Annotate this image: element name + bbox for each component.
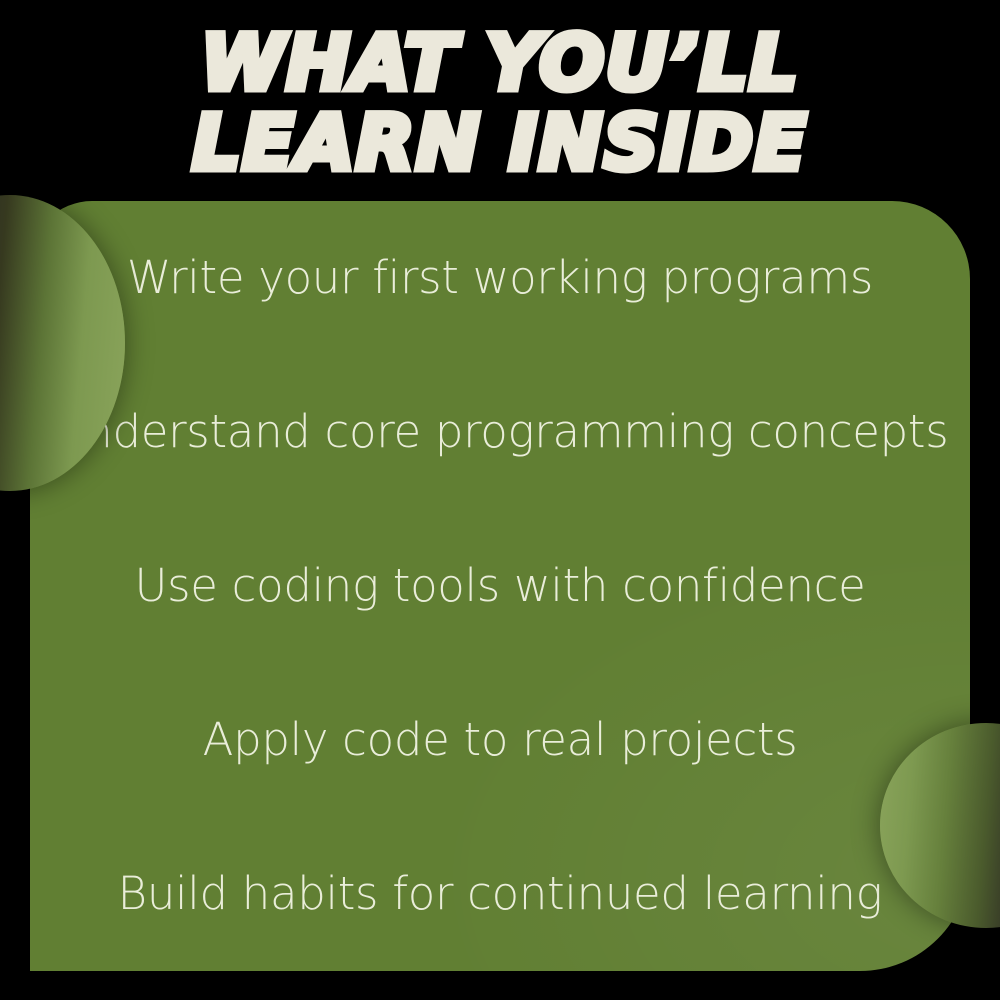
list-item: Use coding tools with confidence	[30, 509, 970, 663]
list-item-label: Apply code to real projects	[203, 716, 798, 763]
list-item-label: Write your first working programs	[127, 254, 873, 301]
list-item-label: Understand core programming concepts	[52, 408, 949, 455]
learning-points-list: Write your first working programs Unders…	[30, 201, 970, 971]
list-item: Write your first working programs	[30, 201, 970, 355]
list-item-label: Build habits for continued learning	[118, 870, 883, 917]
poster-canvas: WHAT YOU’LL LEARN INSIDE Write your firs…	[0, 0, 1000, 1000]
list-item-label: Use coding tools with confidence	[134, 562, 865, 609]
page-title: WHAT YOU’LL LEARN INSIDE	[0, 28, 1000, 178]
list-item: Understand core programming concepts	[30, 355, 970, 509]
list-item: Apply code to real projects	[30, 663, 970, 817]
list-item: Build habits for continued learning	[30, 817, 970, 971]
page-title-line-2: LEARN INSIDE	[0, 108, 1000, 178]
page-title-line-1: WHAT YOU’LL	[0, 28, 1000, 98]
content-card: Write your first working programs Unders…	[30, 201, 970, 971]
